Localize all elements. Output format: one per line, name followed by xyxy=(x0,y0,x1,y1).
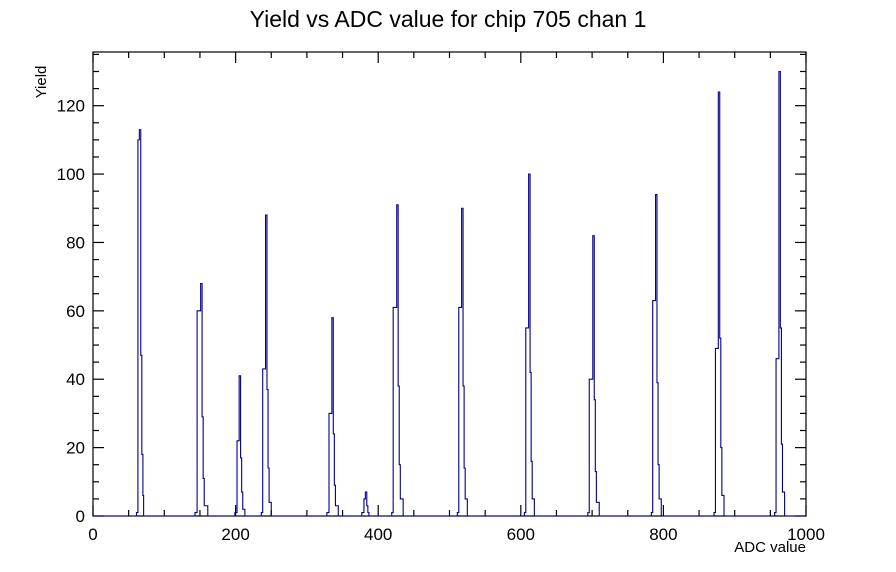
y-tick-label: 100 xyxy=(57,165,85,184)
y-axis-tick-labels: 020406080100120 xyxy=(57,97,85,526)
y-tick-label: 0 xyxy=(76,507,85,526)
x-tick-label: 400 xyxy=(364,525,392,544)
y-tick-label: 40 xyxy=(66,370,85,389)
x-axis-title: ADC value xyxy=(734,539,806,556)
y-tick-label: 20 xyxy=(66,439,85,458)
plot-frame xyxy=(93,52,806,516)
chart-canvas: Yield vs ADC value for chip 705 chan 1 0… xyxy=(0,0,896,572)
x-tick-label: 200 xyxy=(221,525,249,544)
y-axis-title: Yield xyxy=(33,66,50,99)
x-tick-label: 0 xyxy=(88,525,97,544)
y-tick-label: 60 xyxy=(66,302,85,321)
y-tick-label: 80 xyxy=(66,233,85,252)
y-tick-label: 120 xyxy=(57,97,85,116)
x-tick-label: 800 xyxy=(649,525,677,544)
x-tick-label: 600 xyxy=(507,525,535,544)
x-axis-tick-labels: 02004006008001000 xyxy=(88,525,825,544)
histogram-plot: 02004006008001000 020406080100120 Yield … xyxy=(0,0,896,572)
